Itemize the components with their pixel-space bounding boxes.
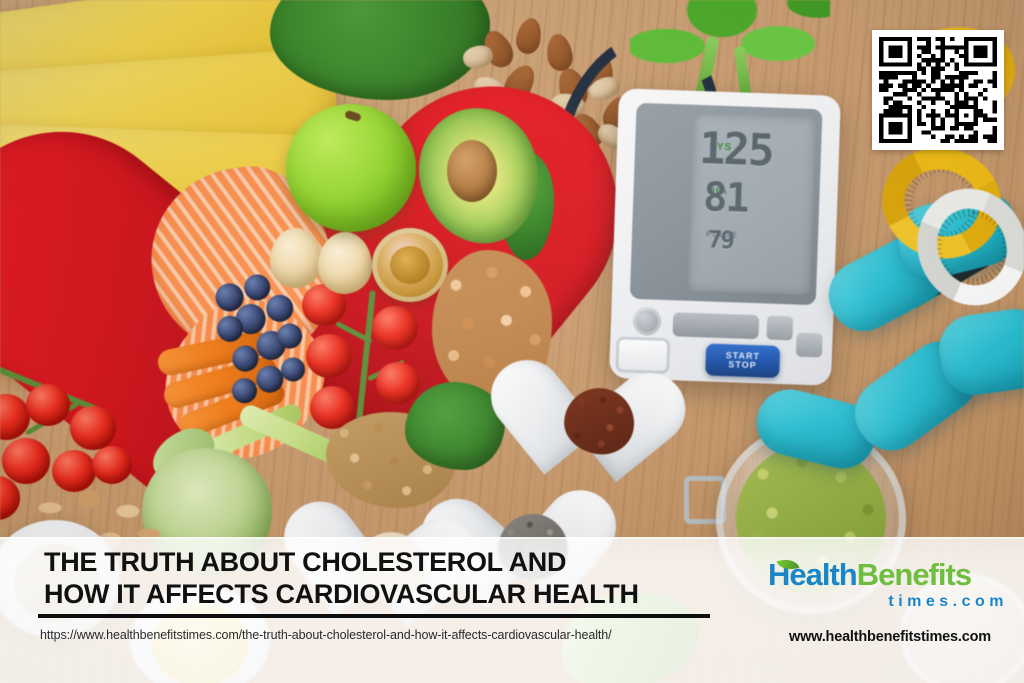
banner-image: SYS DIA PULSE 125 81 79 STARTSTOP: [0, 0, 1024, 683]
onion: [318, 232, 372, 294]
logo-wordmark: HealthBenefits: [768, 559, 1008, 590]
site-url[interactable]: www.healthbenefitstimes.com: [768, 629, 1012, 645]
site-logo[interactable]: HealthBenefits times.com: [768, 559, 1008, 625]
monitor-memory-button[interactable]: [766, 316, 793, 341]
article-title: THE TRUTH ABOUT CHOLESTEROL AND HOW IT A…: [44, 547, 734, 610]
qr-code-grid: [879, 37, 997, 143]
systolic-value: 125: [698, 127, 773, 174]
avocado-pit: [447, 140, 497, 202]
qr-code[interactable]: [872, 30, 1004, 150]
monitor-slider-control[interactable]: [673, 312, 760, 339]
monitor-power-button[interactable]: [633, 307, 662, 336]
monitor-start-stop-button[interactable]: STARTSTOP: [705, 343, 780, 378]
logo-word-benefits: Benefits: [857, 557, 971, 592]
green-apple: [286, 104, 416, 232]
title-line-2: HOW IT AFFECTS CARDIOVASCULAR HEALTH: [44, 579, 734, 611]
monitor-user-button[interactable]: [796, 333, 823, 358]
monitor-cuff-port: [615, 336, 670, 374]
article-banner: THE TRUTH ABOUT CHOLESTEROL AND HOW IT A…: [0, 537, 1024, 683]
onion: [270, 228, 322, 288]
title-divider: [38, 614, 710, 618]
logo-subtitle: times.com: [888, 593, 1008, 611]
red-quinoa-heart-bowl: [532, 362, 663, 486]
article-url[interactable]: https://www.healthbenefitstimes.com/the-…: [40, 628, 611, 642]
olive-oil: [390, 246, 430, 284]
monitor-front-panel: SYS DIA PULSE 125 81 79: [630, 103, 823, 305]
title-line-1: THE TRUTH ABOUT CHOLESTEROL AND: [44, 547, 734, 579]
banner-top-edge: [0, 537, 1024, 539]
pulse-value: 79: [707, 227, 733, 252]
diastolic-value: 81: [703, 177, 749, 219]
blood-pressure-monitor[interactable]: SYS DIA PULSE 125 81 79 STARTSTOP: [609, 88, 841, 386]
